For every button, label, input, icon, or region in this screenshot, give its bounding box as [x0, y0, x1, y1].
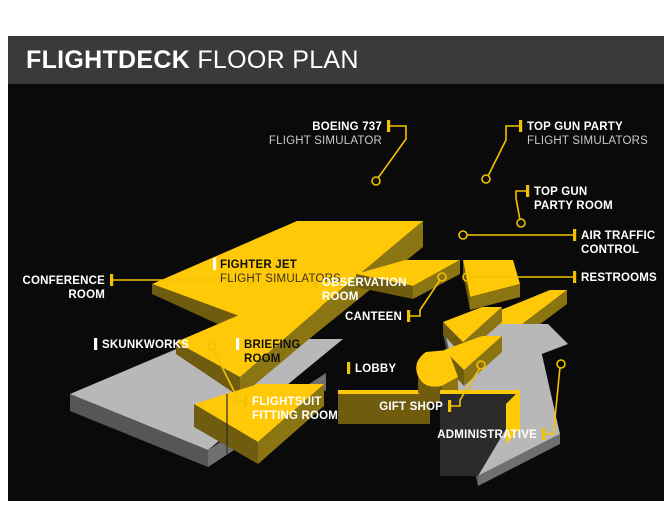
header-band: FLIGHTDECK FLOOR PLAN	[8, 36, 664, 84]
isometric-floor-plan: BOEING 737 FLIGHT SIMULATOR TOP GUN PART…	[8, 84, 664, 501]
label-fighter-jet-line1: FIGHTER JET	[220, 259, 297, 271]
label-conference-room-line2: ROOM	[68, 289, 105, 301]
label-administrative[interactable]: ADMINISTRATIVE	[437, 429, 537, 441]
giftshop-top-edge	[440, 390, 520, 394]
label-skunkworks-line1: SKUNKWORKS	[102, 339, 189, 351]
tick-top-gun-party	[519, 120, 522, 132]
tick-air-traffic-control	[573, 229, 576, 241]
tick-boeing-737	[387, 120, 390, 132]
label-canteen[interactable]: CANTEEN	[345, 311, 402, 323]
label-canteen-line1: CANTEEN	[345, 311, 402, 323]
floor-plan-page: FLIGHTDECK FLOOR PLAN	[0, 0, 672, 510]
title-light: FLOOR PLAN	[197, 46, 358, 74]
tick-administrative	[542, 428, 545, 440]
label-restrooms[interactable]: RESTROOMS	[581, 272, 657, 284]
title-strong: FLIGHTDECK	[26, 46, 190, 74]
plan-canvas: FLIGHTDECK FLOOR PLAN	[8, 36, 664, 501]
label-lobby[interactable]: LOBBY	[355, 363, 396, 375]
label-top-gun-party-line2: FLIGHT SIMULATORS	[527, 135, 648, 147]
tick-gift-shop	[448, 400, 451, 412]
label-skunkworks[interactable]: SKUNKWORKS	[102, 339, 189, 351]
label-briefing-room-line1: BRIEFING	[244, 339, 301, 351]
page-title: FLIGHTDECK FLOOR PLAN	[26, 46, 359, 75]
label-gift-shop-line1: GIFT SHOP	[379, 401, 443, 413]
tick-conference-room	[110, 274, 113, 286]
label-conference-room-line1: CONFERENCE	[22, 275, 105, 287]
label-observation-room-line2: ROOM	[322, 291, 359, 303]
label-air-traffic-control-line1: AIR TRAFFIC	[581, 230, 655, 242]
label-administrative-line1: ADMINISTRATIVE	[437, 429, 537, 441]
label-briefing-room-line2: ROOM	[244, 353, 281, 365]
label-gift-shop[interactable]: GIFT SHOP	[379, 401, 443, 413]
label-flightsuit-fitting-room-line2: FITTING ROOM	[252, 410, 338, 422]
label-restrooms-line1: RESTROOMS	[581, 272, 657, 284]
label-lobby-line1: LOBBY	[355, 363, 396, 375]
tick-skunkworks	[94, 338, 97, 350]
tick-briefing-room	[236, 338, 239, 350]
label-top-gun-party-room-line1: TOP GUN	[534, 186, 587, 198]
briefing-top-spacer	[244, 384, 324, 396]
label-air-traffic-control-line2: CONTROL	[581, 244, 639, 256]
tick-fighter-jet	[213, 258, 216, 270]
tick-canteen	[407, 310, 410, 322]
label-boeing-737-line1: BOEING 737	[312, 121, 382, 133]
label-flightsuit-fitting-room-line1: FLIGHTSUIT	[252, 396, 322, 408]
tick-top-gun-party-room	[526, 185, 529, 197]
tick-restrooms	[573, 271, 576, 283]
label-boeing-737-line2: FLIGHT SIMULATOR	[269, 135, 382, 147]
label-top-gun-party-line1: TOP GUN PARTY	[527, 121, 623, 133]
label-top-gun-party-room-line2: PARTY ROOM	[534, 200, 613, 212]
tick-flightsuit-fitting-room	[244, 395, 247, 407]
canteen-top-edge	[338, 390, 430, 394]
tick-lobby	[347, 362, 350, 374]
label-observation-room-line1: OBSERVATION	[322, 277, 407, 289]
